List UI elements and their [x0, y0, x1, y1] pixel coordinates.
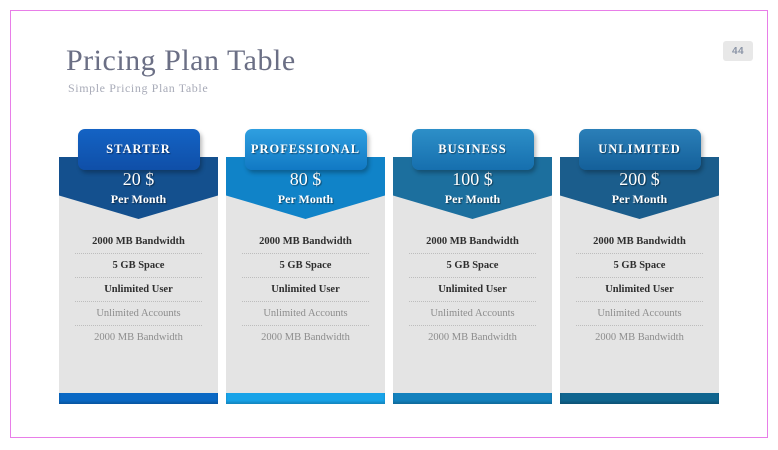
feature-row: 2000 MB Bandwidth [560, 325, 719, 349]
pricing-card: 80 $Per MonthPROFESSIONAL2000 MB Bandwid… [226, 129, 385, 404]
feature-row: Unlimited User [560, 277, 719, 301]
pricing-card: 100 $Per MonthBUSINESS2000 MB Bandwidth5… [393, 129, 552, 404]
plan-name-label: BUSINESS [438, 143, 506, 156]
feature-row: Unlimited Accounts [393, 301, 552, 325]
plan-price: 20 $ [59, 169, 218, 190]
page-title: Pricing Plan Table [66, 44, 296, 78]
plan-price: 80 $ [226, 169, 385, 190]
feature-row: Unlimited Accounts [226, 301, 385, 325]
feature-row: 5 GB Space [393, 253, 552, 277]
feature-row: 2000 MB Bandwidth [226, 325, 385, 349]
feature-row: 2000 MB Bandwidth [226, 229, 385, 253]
plan-name-button[interactable]: BUSINESS [412, 129, 534, 170]
feature-row: 5 GB Space [560, 253, 719, 277]
slide-canvas: 44 Pricing Plan Table Simple Pricing Pla… [10, 10, 768, 438]
pricing-cards-container: 20 $Per MonthSTARTER2000 MB Bandwidth5 G… [59, 129, 731, 404]
pricing-card: 20 $Per MonthSTARTER2000 MB Bandwidth5 G… [59, 129, 218, 404]
plan-name-label: UNLIMITED [598, 143, 681, 156]
feature-row: 5 GB Space [59, 253, 218, 277]
plan-name-label: STARTER [106, 143, 171, 156]
plan-name-button[interactable]: PROFESSIONAL [245, 129, 367, 170]
feature-row: Unlimited User [59, 277, 218, 301]
feature-row: Unlimited User [393, 277, 552, 301]
feature-row: Unlimited Accounts [560, 301, 719, 325]
feature-row: Unlimited User [226, 277, 385, 301]
feature-row: 5 GB Space [226, 253, 385, 277]
feature-row: 2000 MB Bandwidth [59, 325, 218, 349]
feature-list: 2000 MB Bandwidth5 GB SpaceUnlimited Use… [560, 229, 719, 349]
feature-row: 2000 MB Bandwidth [59, 229, 218, 253]
plan-price: 100 $ [393, 169, 552, 190]
feature-list: 2000 MB Bandwidth5 GB SpaceUnlimited Use… [226, 229, 385, 349]
plan-name-label: PROFESSIONAL [251, 143, 360, 156]
plan-name-button[interactable]: STARTER [78, 129, 200, 170]
card-footer-bar[interactable] [59, 393, 218, 404]
pricing-card: 200 $Per MonthUNLIMITED2000 MB Bandwidth… [560, 129, 719, 404]
feature-row: 2000 MB Bandwidth [560, 229, 719, 253]
plan-price: 200 $ [560, 169, 719, 190]
plan-name-button[interactable]: UNLIMITED [579, 129, 701, 170]
feature-list: 2000 MB Bandwidth5 GB SpaceUnlimited Use… [59, 229, 218, 349]
feature-list: 2000 MB Bandwidth5 GB SpaceUnlimited Use… [393, 229, 552, 349]
feature-row: 2000 MB Bandwidth [393, 229, 552, 253]
feature-row: 2000 MB Bandwidth [393, 325, 552, 349]
feature-row: Unlimited Accounts [59, 301, 218, 325]
card-footer-bar[interactable] [393, 393, 552, 404]
page-number-badge: 44 [723, 41, 753, 61]
card-footer-bar[interactable] [226, 393, 385, 404]
page-subtitle: Simple Pricing Plan Table [68, 81, 208, 96]
card-footer-bar[interactable] [560, 393, 719, 404]
